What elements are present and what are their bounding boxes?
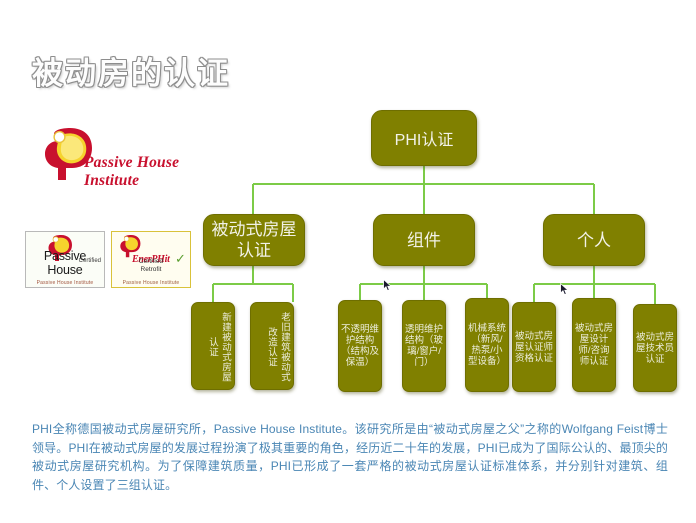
tree-leaf-label: 被动式房屋设计师/咨询师认证 [575,323,613,367]
tree-node-branch-buildings-label: 被动式房屋认证 [204,219,304,261]
tree-leaf-opaque-envelope[interactable]: 不透明维护结构（结构及保温） [338,300,382,392]
tree-leaf-new-building-certification[interactable]: 新建被动式房屋认证 [191,302,235,390]
tree-leaf-label: 机械系统（新风/热泵/小型设备） [468,323,506,367]
tree-leaf-certifier-qualification[interactable]: 被动式房屋认证师资格认证 [512,302,556,392]
tree-leaf-designer-consultant[interactable]: 被动式房屋设计师/咨询师认证 [572,298,616,392]
tree-leaf-label: 不透明维护结构（结构及保温） [341,324,379,368]
tree-leaf-retrofit-certification[interactable]: 老旧建筑被动式改造认证 [250,302,294,390]
slide-canvas: 被动房的认证 Passive House Institute Certified… [0,0,696,523]
description-paragraph: PHI全称德国被动式房屋研究所，Passive House Institute。… [32,420,668,494]
tree-node-root-label: PHI认证 [395,126,454,150]
phi-certification-tree: PHI认证 被动式房屋认证 组件 个人 新建被动式房屋认证 老旧建筑被动式改造认… [0,0,696,410]
tree-node-branch-buildings[interactable]: 被动式房屋认证 [203,214,305,266]
tree-node-branch-components[interactable]: 组件 [373,214,475,266]
tree-leaf-label: 被动式房屋认证师资格认证 [515,331,553,364]
tree-node-root[interactable]: PHI认证 [371,110,477,166]
tree-node-branch-individuals[interactable]: 个人 [543,214,645,266]
tree-leaf-label: 老旧建筑被动式改造认证 [265,308,291,386]
tree-leaf-mechanical-systems[interactable]: 机械系统（新风/热泵/小型设备） [465,298,509,392]
tree-leaf-tradesperson[interactable]: 被动式房屋技术员认证 [633,304,677,392]
tree-leaf-label: 新建被动式房屋认证 [206,308,232,386]
tree-leaf-label: 被动式房屋技术员认证 [636,332,674,365]
tree-node-branch-components-label: 组件 [407,230,441,251]
tree-leaf-transparent-envelope[interactable]: 透明维护结构（玻璃/窗户/门） [402,300,446,392]
tree-leaf-label: 透明维护结构（玻璃/窗户/门） [405,324,443,368]
tree-node-branch-individuals-label: 个人 [577,230,611,251]
